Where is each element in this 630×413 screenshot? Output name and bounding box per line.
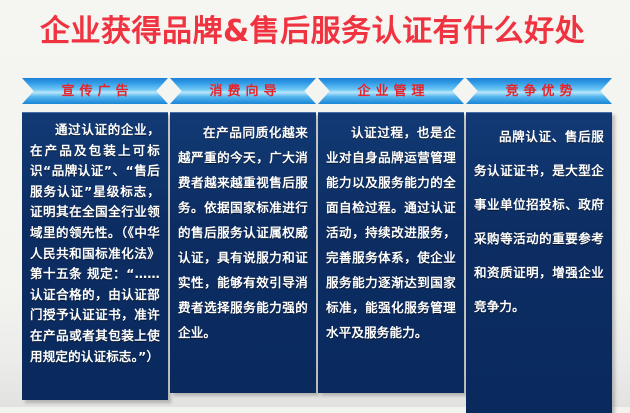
page-title: 企业获得品牌&售后服务认证有什么好处 bbox=[40, 17, 585, 47]
banner-label: 消费向导 bbox=[204, 85, 281, 98]
banner-label: 竞争优势 bbox=[500, 85, 577, 98]
banner-label: 宣传广告 bbox=[56, 85, 133, 98]
content-column-3: 企业管理 认证过程，也是企业对自身品牌运营管理能力以及服务能力的全面自检过程。通… bbox=[318, 72, 464, 393]
content-columns: 宣传广告 通过认证的企业，在产品及包装上可标识“品牌认证”、“售后服务认证”星级… bbox=[0, 72, 630, 407]
content-column-4: 竞争优势 品牌认证、售后服务认证证书，是大型企事业单位招投标、政府采购等活动的重… bbox=[466, 72, 612, 413]
slide-canvas: 企业获得品牌&售后服务认证有什么好处 宣传广告 通过认证的企业，在产品及包装上可… bbox=[0, 0, 630, 407]
panel-jingzheng-youshi: 品牌认证、售后服务认证证书，是大型企事业单位招投标、政府采购等活动的重要参考和资… bbox=[466, 112, 612, 413]
content-column-1: 宣传广告 通过认证的企业，在产品及包装上可标识“品牌认证”、“售后服务认证”星级… bbox=[22, 72, 168, 400]
panel-xuanchuan-guanggao: 通过认证的企业，在产品及包装上可标识“品牌认证”、“售后服务认证”星级标志，证明… bbox=[22, 112, 168, 400]
panel-body-text: 通过认证的企业，在产品及包装上可标识“品牌认证”、“售后服务认证”星级标志，证明… bbox=[30, 120, 160, 367]
banner-qiye-guanli[interactable]: 企业管理 bbox=[318, 78, 464, 104]
panel-qiye-guanli: 认证过程，也是企业对自身品牌运营管理能力以及服务能力的全面自检过程。通过认证活动… bbox=[318, 112, 464, 393]
title-row: 企业获得品牌&售后服务认证有什么好处 bbox=[0, 6, 630, 58]
banner-label: 企业管理 bbox=[352, 85, 429, 98]
panel-body-text: 在产品同质化越来越严重的今天，广大消费者越来越重视售后服务。依据国家标准进行的售… bbox=[178, 120, 308, 345]
panel-body-text: 认证过程，也是企业对自身品牌运营管理能力以及服务能力的全面自检过程。通过认证活动… bbox=[326, 120, 456, 345]
banner-xuanchuan-guanggao[interactable]: 宣传广告 bbox=[22, 78, 168, 104]
panel-xiaofei-xiangdao: 在产品同质化越来越严重的今天，广大消费者越来越重视售后服务。依据国家标准进行的售… bbox=[170, 112, 316, 393]
content-column-2: 消费向导 在产品同质化越来越严重的今天，广大消费者越来越重视售后服务。依据国家标… bbox=[170, 72, 316, 393]
banner-jingzheng-youshi[interactable]: 竞争优势 bbox=[466, 78, 612, 104]
panel-body-text: 品牌认证、售后服务认证证书，是大型企事业单位招投标、政府采购等活动的重要参考和资… bbox=[474, 120, 604, 324]
banner-xiaofei-xiangdao[interactable]: 消费向导 bbox=[170, 78, 316, 104]
